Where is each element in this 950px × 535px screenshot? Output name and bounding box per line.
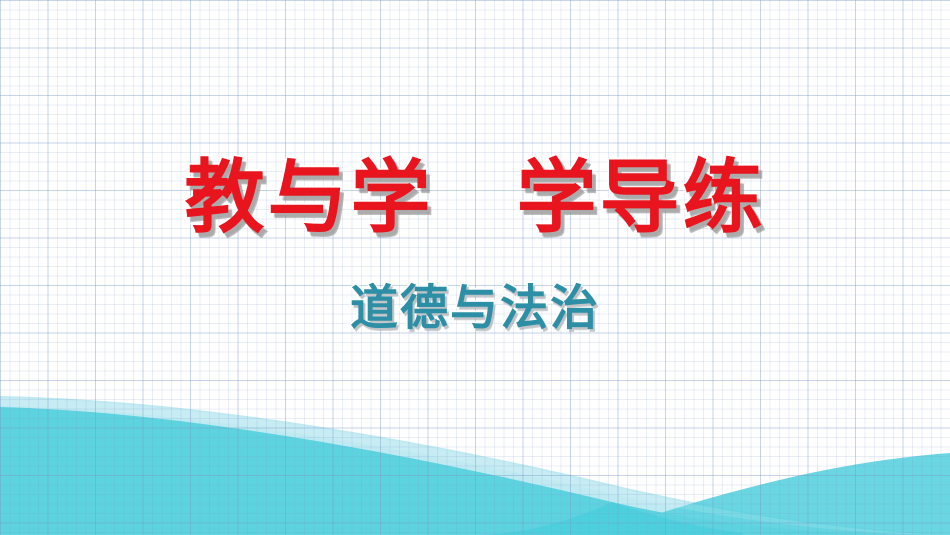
page-subtitle: 道德与法治	[0, 278, 950, 338]
bottom-wave-decoration	[0, 0, 950, 535]
slide-canvas: 教与学 学导练 道德与法治	[0, 0, 950, 535]
page-title: 教与学 学导练	[0, 151, 950, 245]
